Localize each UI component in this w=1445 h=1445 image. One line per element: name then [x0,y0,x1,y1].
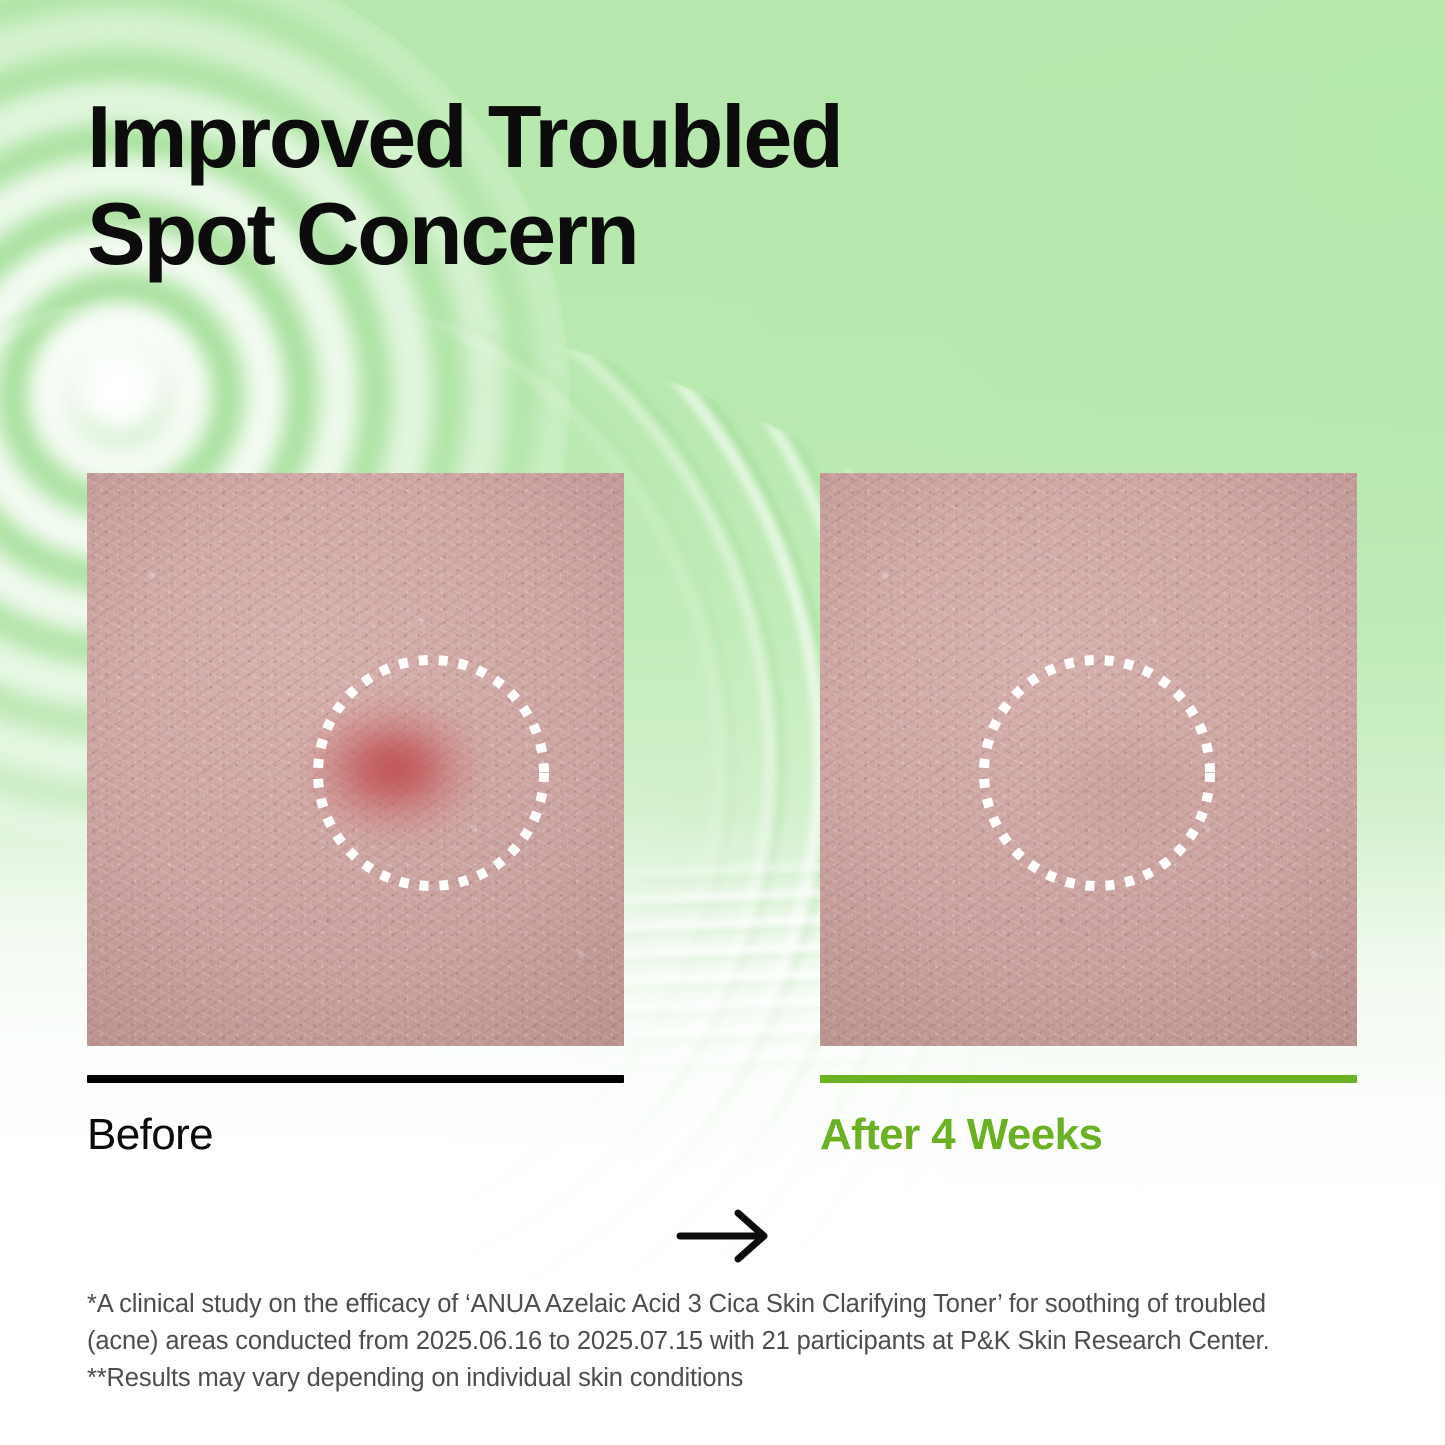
dotted-circle-marker [309,651,553,895]
after-photo [820,473,1357,1046]
after-caption-block: After 4 Weeks [820,1075,1357,1161]
footnote-line-1: *A clinical study on the efficacy of ‘AN… [87,1286,1327,1323]
before-label: Before [87,1109,624,1161]
before-caption-block: Before [87,1075,624,1161]
right-arrow-icon [676,1208,772,1264]
page-title: Improved Troubled Spot Concern [87,88,842,282]
after-label: After 4 Weeks [820,1109,1357,1161]
before-after-comparison [0,473,1445,1048]
footnote-line-3: **Results may vary depending on individu… [87,1360,1327,1397]
dotted-circle-marker [975,651,1219,895]
footnote-line-2: (acne) areas conducted from 2025.06.16 t… [87,1323,1327,1360]
product-efficacy-poster: Improved Troubled Spot Concern [0,0,1445,1445]
footnotes: *A clinical study on the efficacy of ‘AN… [87,1286,1327,1397]
before-photo [87,473,624,1046]
after-rule [820,1075,1357,1083]
before-rule [87,1075,624,1083]
